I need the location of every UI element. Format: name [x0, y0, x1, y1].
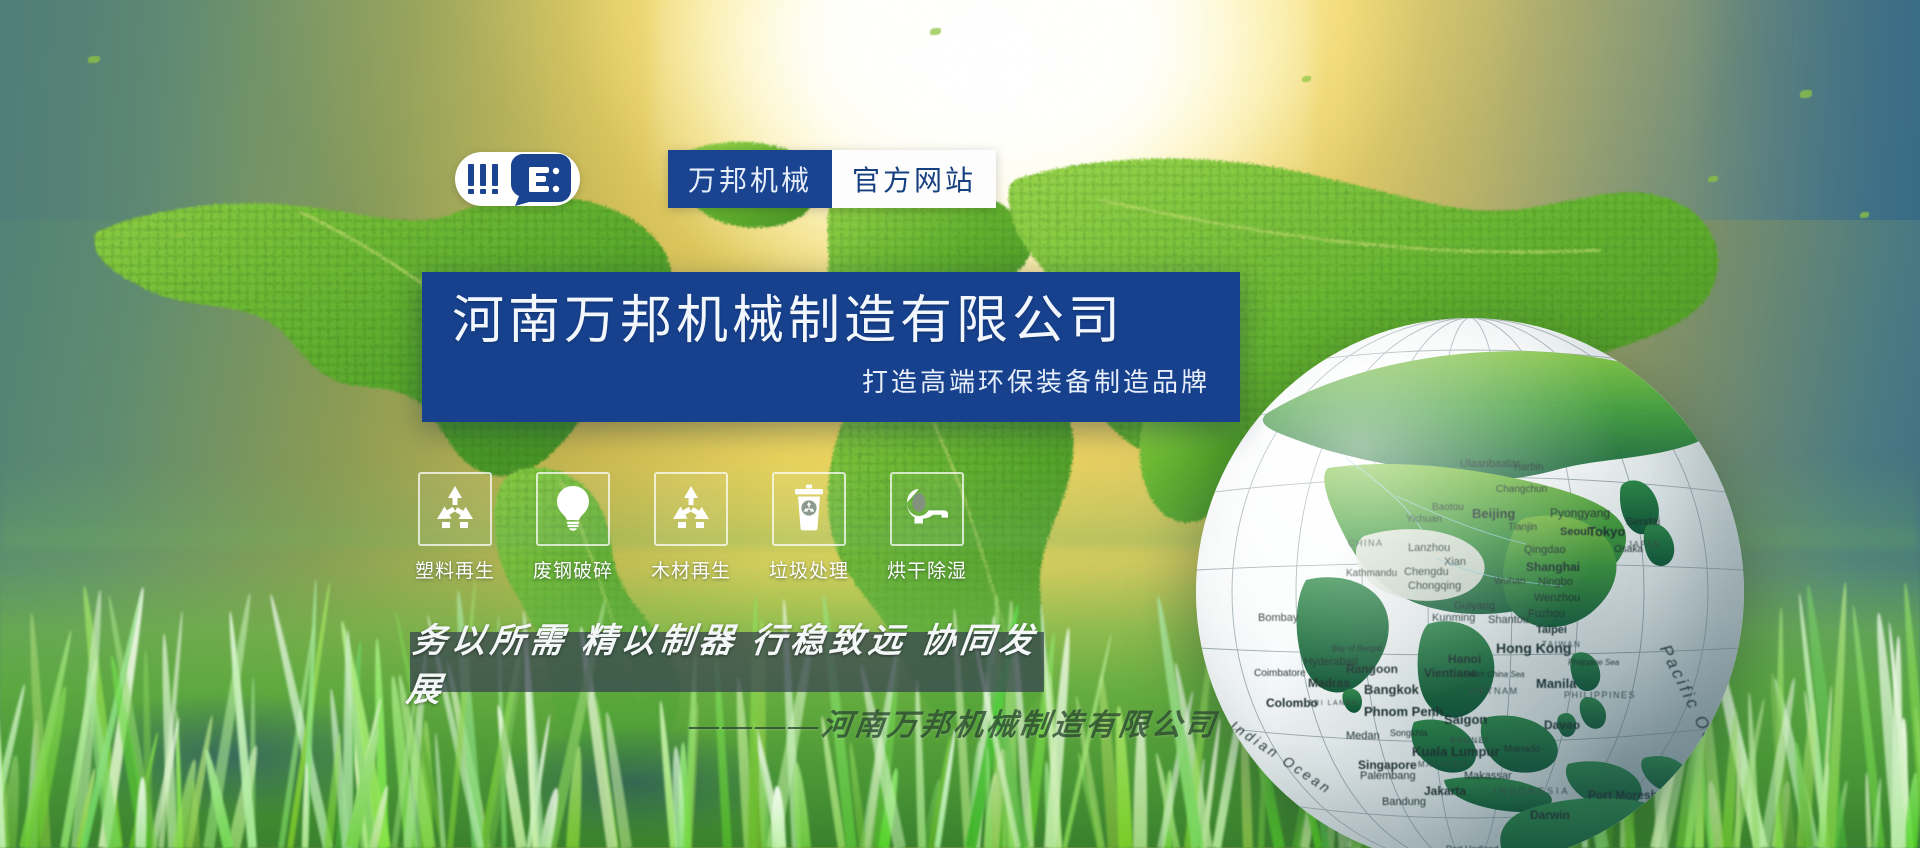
globe-country-label: JAPAN — [1628, 540, 1661, 549]
recycle-icon — [667, 483, 715, 536]
leaf-speck — [1302, 76, 1311, 82]
feature-label: 烘干除湿 — [887, 556, 967, 583]
blower-dryer-icon — [903, 483, 951, 536]
feature-label: 塑料再生 — [415, 556, 495, 583]
globe-city-label: Tokyo — [1588, 524, 1625, 539]
globe-city-label: Guiyang — [1454, 600, 1495, 612]
globe-city-label: Beijing — [1472, 506, 1515, 521]
globe-city-label: Seoul — [1560, 526, 1590, 538]
feature-icon-box — [772, 472, 846, 546]
globe-sea-label: Philippine Sea — [1568, 658, 1619, 667]
feature-item-wood-recycling[interactable]: 木材再生 — [654, 472, 728, 583]
brand-logo[interactable] — [455, 152, 580, 206]
globe-city-label: Saigon — [1444, 712, 1487, 727]
globe-city-label: Fuzhou — [1528, 608, 1565, 620]
nav-brand-tab[interactable]: 万邦机械 — [668, 150, 832, 208]
site-header: 万邦机械 官方网站 — [455, 148, 996, 210]
globe-city-label: Ulaanbaatar — [1460, 458, 1520, 470]
globe-city-label: Bombay — [1258, 612, 1298, 624]
w-letter-icon — [465, 162, 505, 196]
globe-sea-label: South China Sea — [1464, 670, 1525, 679]
feature-label: 垃圾处理 — [769, 556, 849, 583]
globe-city-label: Qingdao — [1524, 544, 1566, 556]
slogan-text: 务以所需 精以制器 行稳致远 协同发展 — [404, 613, 1050, 711]
feature-item-drying-dehumidifying[interactable]: 烘干除湿 — [890, 472, 964, 583]
globe-city-label: Changchun — [1496, 484, 1547, 495]
globe-city-label: Palembang — [1360, 770, 1416, 782]
leaf-speck — [1800, 90, 1812, 98]
globe-city-label: Lanzhou — [1408, 542, 1450, 554]
globe-city-label: Chongqing — [1408, 580, 1461, 592]
globe-city-label: Harbin — [1514, 462, 1543, 473]
globe-country-label: TAIWAN — [1542, 640, 1581, 649]
feature-icon-box — [890, 472, 964, 546]
feature-icon-box — [418, 472, 492, 546]
b-speech-bubble-icon — [509, 152, 571, 206]
feature-list: 塑料再生 废钢破碎 — [418, 472, 964, 583]
globe-city-label: Wenzhou — [1534, 592, 1580, 604]
feature-item-plastic-recycling[interactable]: 塑料再生 — [418, 472, 492, 583]
globe-city-label: Manila — [1536, 676, 1576, 691]
globe-city-label: Shantou — [1488, 614, 1529, 626]
feature-icon-box — [654, 472, 728, 546]
feature-item-scrap-steel-crushing[interactable]: 废钢破碎 — [536, 472, 610, 583]
globe-city-label: Kathmandu — [1346, 568, 1397, 579]
globe-city-label: Coimbatore — [1254, 668, 1306, 679]
hero-banner: (function(){ var host = document.current… — [0, 0, 1920, 848]
leaf-speck — [1860, 212, 1869, 218]
globe-city-label: Darwin — [1530, 808, 1570, 822]
globe-city-label: Makassar — [1464, 770, 1512, 782]
globe-graphic: Ulaanbaatar Beijing Baotou Yichuan Chang… — [1196, 318, 1744, 848]
globe-city-label: Pyongyang — [1550, 506, 1610, 520]
globe-city-label: Phnom Penh — [1364, 704, 1443, 719]
globe-country-label: VIETNAM — [1468, 686, 1519, 696]
globe-city-label: Songkhla — [1390, 728, 1428, 738]
globe-country-label: INDONESIA — [1494, 786, 1571, 796]
globe-city-label: Kuala Lumpur — [1412, 744, 1499, 759]
globe-city-label: Madras — [1308, 676, 1350, 690]
slogan-attribution: ————河南万邦机械制造有限公司 — [687, 700, 1232, 744]
globe-city-label: Medan — [1346, 730, 1380, 742]
globe-country-label: CHINA — [1348, 538, 1384, 548]
leaf-speck — [88, 56, 100, 63]
feature-item-waste-treatment[interactable]: 垃圾处理 — [772, 472, 846, 583]
company-title-panel: 河南万邦机械制造有限公司 打造高端环保装备制造品牌 — [422, 272, 1240, 422]
globe-country-label: SRI LANKA — [1308, 700, 1358, 707]
globe-city-label: Sendai — [1626, 516, 1660, 528]
globe-city-label: Bandung — [1382, 796, 1426, 808]
globe-city-label: Manado — [1504, 744, 1540, 755]
lightbulb-icon — [549, 483, 597, 536]
globe-sea-label: Bay of Bengal — [1332, 644, 1382, 653]
feature-label: 木材再生 — [651, 556, 731, 583]
feature-icon-box — [536, 472, 610, 546]
slogan-bar: 务以所需 精以制器 行稳致远 协同发展 — [410, 632, 1044, 692]
globe-city-label: Chengdu — [1404, 566, 1449, 578]
globe-city-label: Wuhan — [1494, 576, 1526, 587]
nav-official-site-tab[interactable]: 官方网站 — [832, 150, 996, 208]
page-title: 河南万邦机械制造有限公司 — [452, 292, 1210, 350]
recycle-icon — [431, 483, 479, 536]
globe-country-label: PHILIPPINES — [1564, 690, 1636, 700]
globe-city-label: Baotou — [1432, 502, 1464, 513]
globe-city-label: Hanoi — [1448, 652, 1481, 666]
trash-bin-icon — [785, 483, 833, 536]
leaf-speck — [1708, 176, 1718, 182]
globe-city-label: Jakarta — [1424, 784, 1466, 798]
globe-country-label: MALAYSIA — [1418, 760, 1469, 769]
globe-city-label: Kunming — [1432, 612, 1475, 624]
globe-city-label: Bangkok — [1364, 682, 1419, 697]
globe-city-label: Tianjin — [1508, 522, 1537, 533]
globe-city-label: Taipei — [1536, 624, 1567, 636]
globe-city-label: Hyderabad — [1304, 656, 1358, 668]
globe-city-label: Ningbo — [1538, 576, 1573, 588]
globe-city-label: Port Hedland — [1446, 844, 1499, 848]
globe-city-label: Port Moresby — [1588, 788, 1665, 802]
globe-city-label: Shanghai — [1526, 560, 1580, 574]
site-nav: 万邦机械 官方网站 — [668, 150, 996, 208]
globe-city-label: Yichuan — [1406, 514, 1442, 525]
feature-label: 废钢破碎 — [533, 556, 613, 583]
globe-city-label: Davao — [1544, 718, 1580, 732]
leaf-speck — [176, 232, 186, 238]
globe-country-label: BRUNEI — [1450, 736, 1489, 745]
leaf-speck — [930, 28, 941, 35]
page-subtitle: 打造高端环保装备制造品牌 — [452, 362, 1210, 399]
